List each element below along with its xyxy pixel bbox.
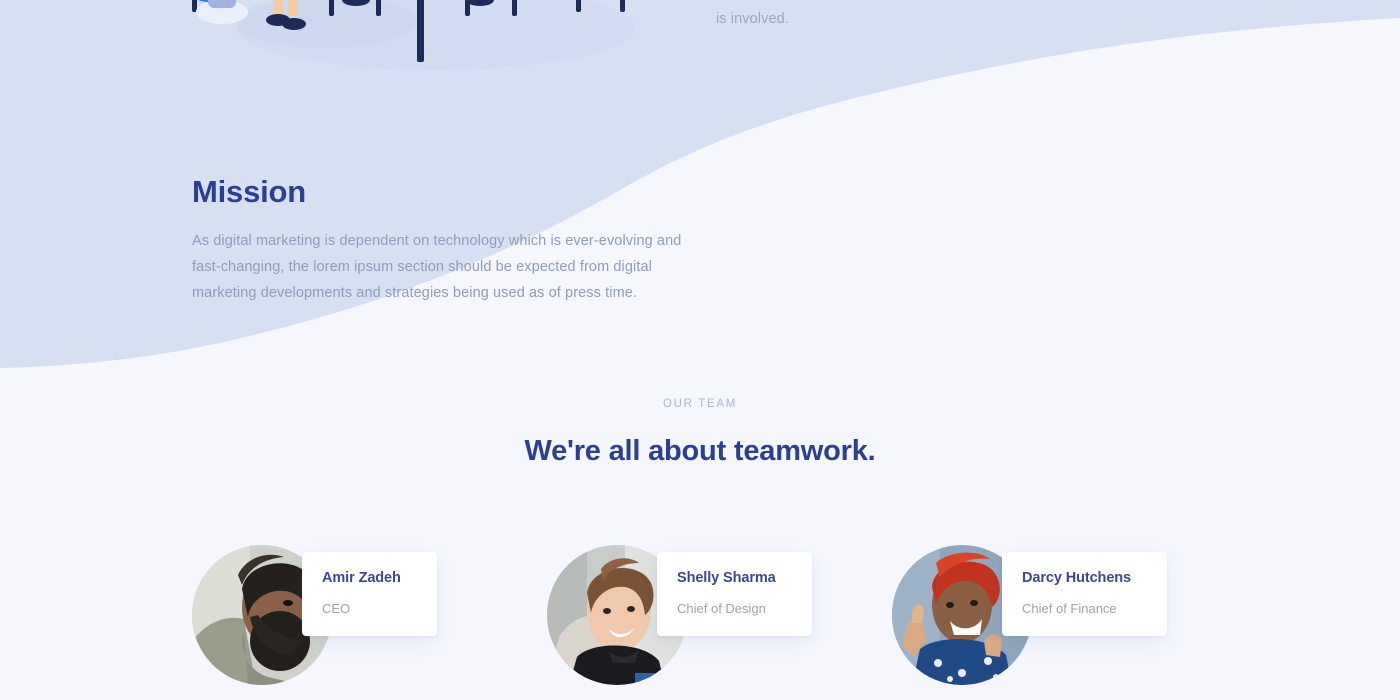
team-member-role: Chief of Design: [677, 600, 792, 618]
team-member-role: Chief of Finance: [1022, 600, 1147, 618]
team-member-info-card: Amir Zadeh CEO: [302, 552, 437, 636]
mission-section: Mission As digital marketing is dependen…: [192, 172, 692, 306]
about-team-page: content marketing. It is found that cont…: [0, 0, 1400, 700]
team-heading-block: OUR TEAM We're all about teamwork.: [0, 396, 1400, 470]
intro-paragraph: content marketing. It is found that cont…: [716, 0, 1194, 32]
team-eyebrow-label: OUR TEAM: [0, 396, 1400, 412]
team-title: We're all about teamwork.: [0, 432, 1400, 470]
isometric-team-meeting-illustration: [186, 0, 656, 80]
team-member-role: CEO: [322, 600, 417, 618]
team-members-row: Amir Zadeh CEO: [0, 540, 1400, 700]
team-member-info-card: Darcy Hutchens Chief of Finance: [1002, 552, 1167, 636]
team-member-name: Darcy Hutchens: [1022, 568, 1147, 588]
team-member-info-card: Shelly Sharma Chief of Design: [657, 552, 812, 636]
intro-paragraph-block: content marketing. It is found that cont…: [716, 0, 1194, 32]
team-member-name: Amir Zadeh: [322, 568, 417, 588]
mission-title: Mission: [192, 172, 692, 212]
mission-body: As digital marketing is dependent on tec…: [192, 228, 684, 306]
team-member-name: Shelly Sharma: [677, 568, 792, 588]
